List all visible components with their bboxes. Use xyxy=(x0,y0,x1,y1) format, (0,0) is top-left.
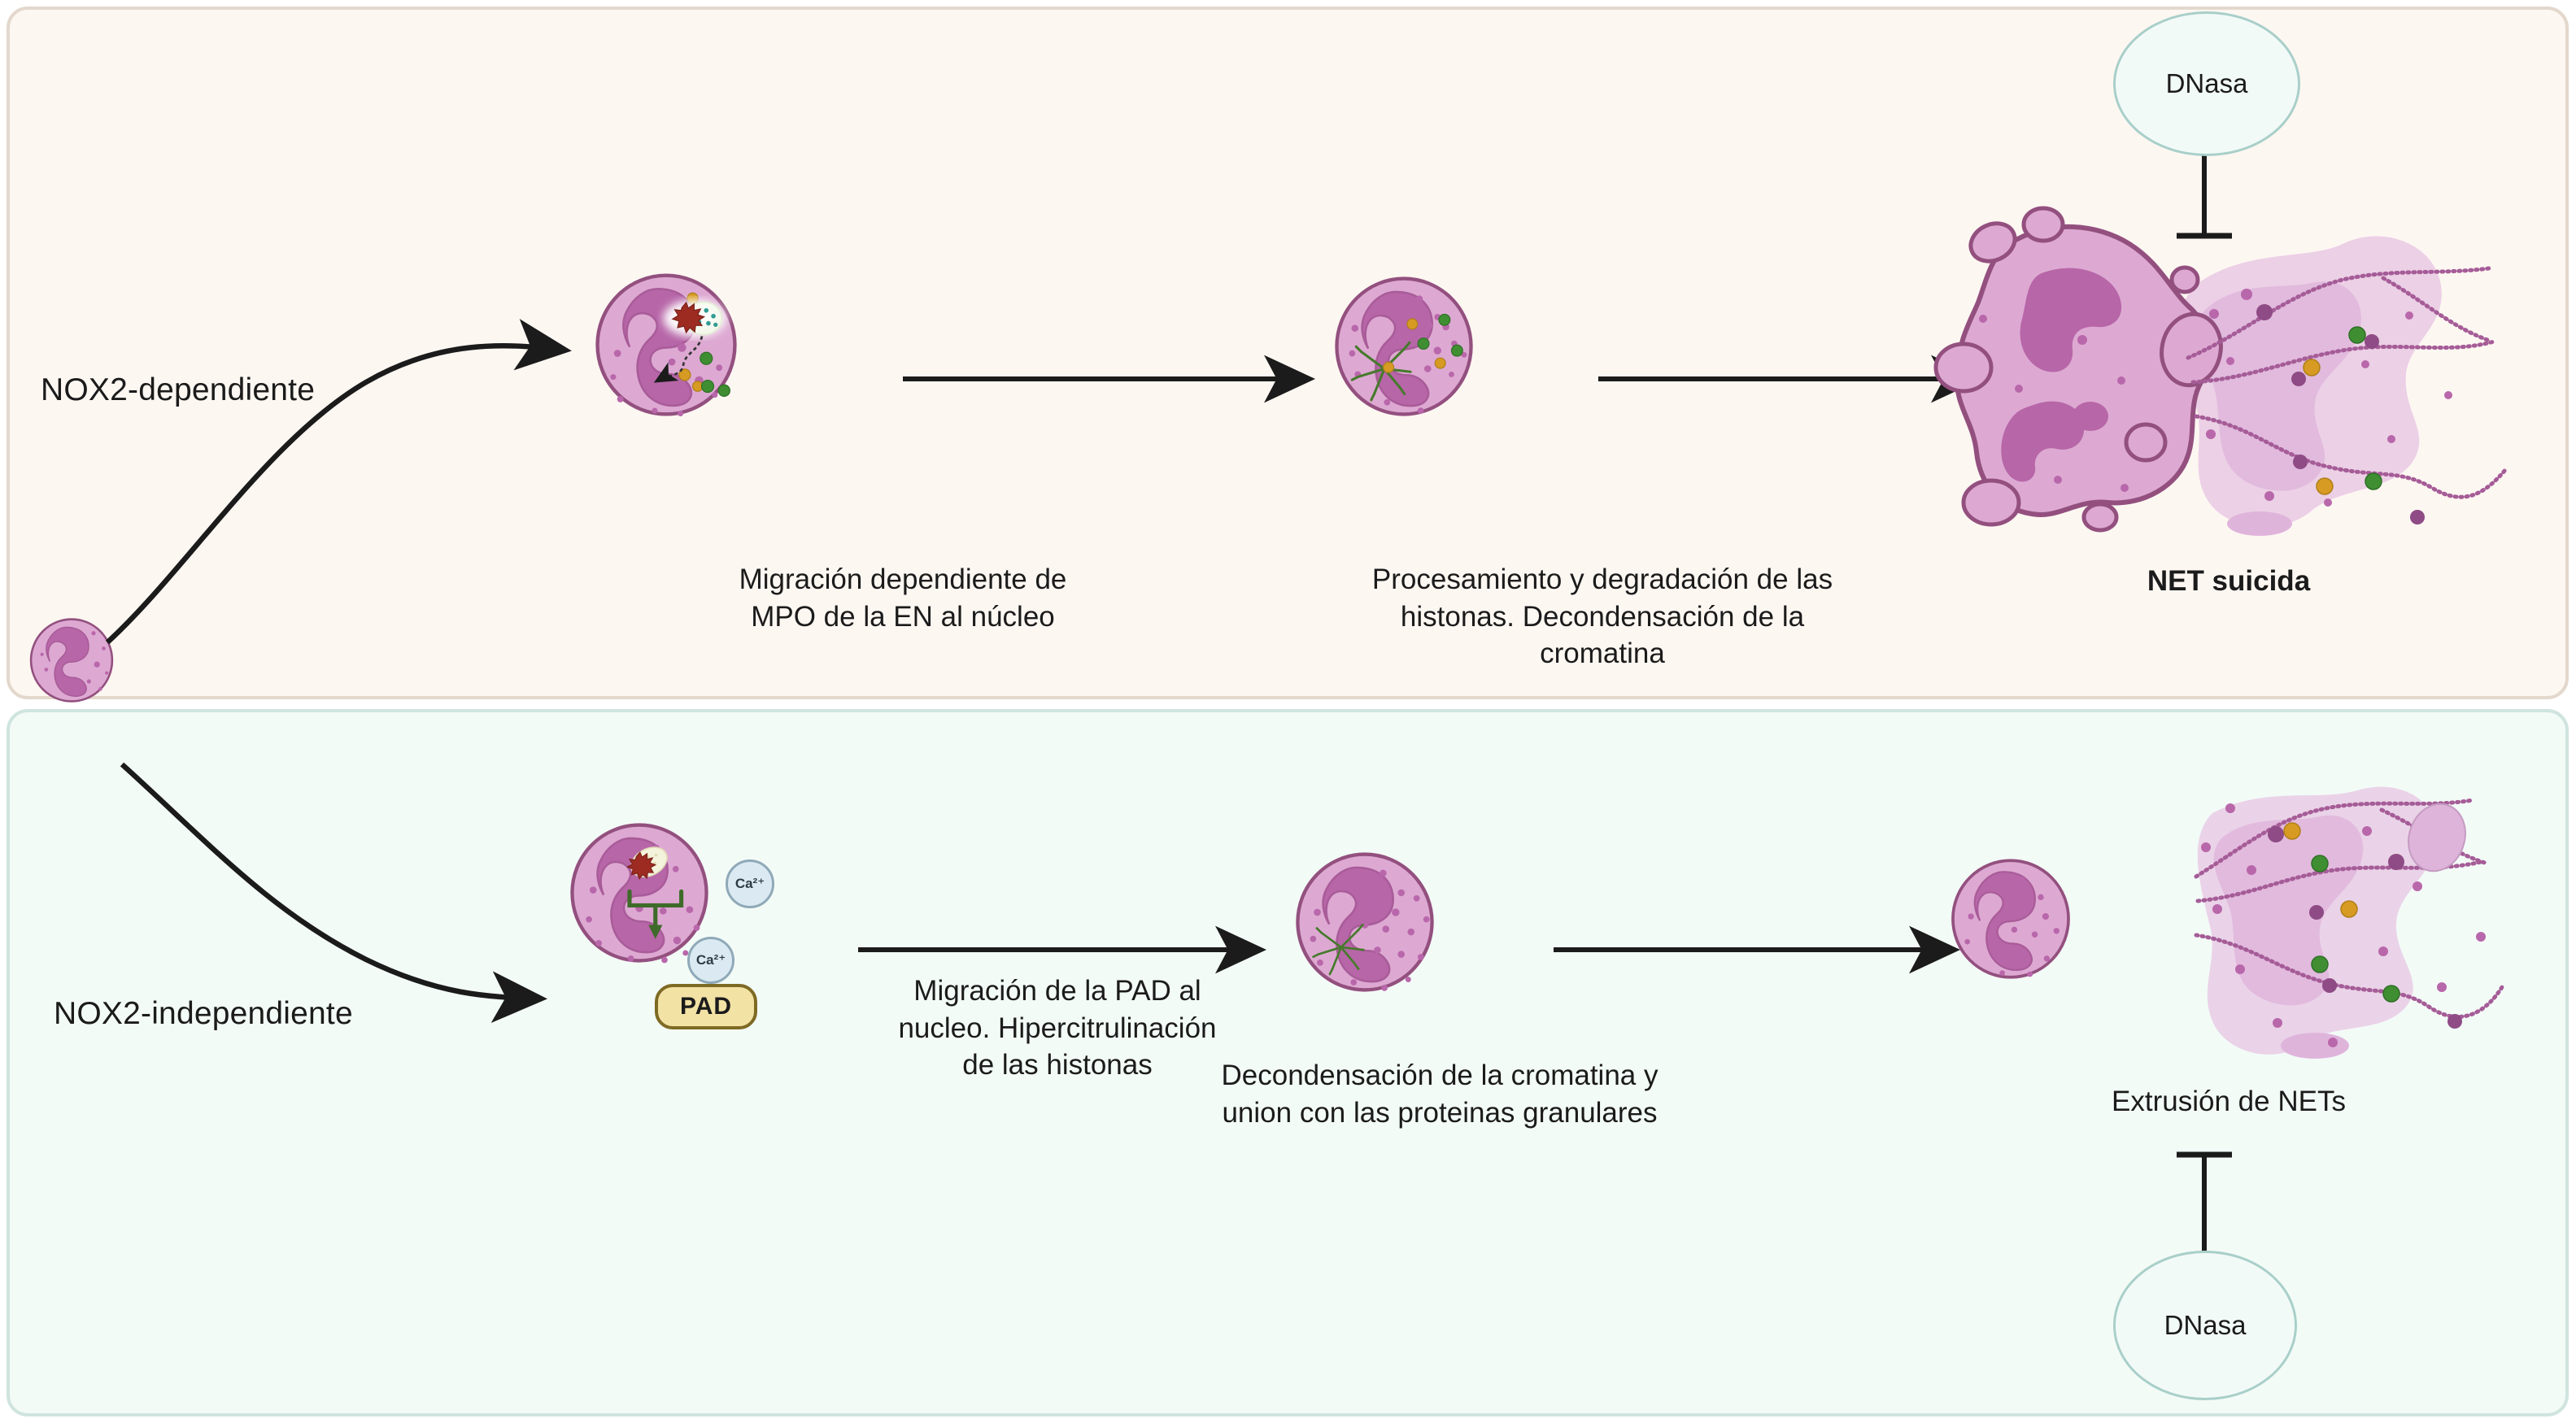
pathway-label-nox2-dependent: NOX2-dependiente xyxy=(41,370,315,411)
calcium-ion-badge-1: Ca²⁺ xyxy=(726,859,774,908)
diagram-canvas: NOX2-dependiente Migración dependiente d… xyxy=(0,0,2576,1423)
dnasa-node-top[interactable]: DNasa xyxy=(2113,11,2300,156)
label-bottom-step3: Extrusión de NETs xyxy=(2066,1083,2391,1121)
dnasa-label-top: DNasa xyxy=(2166,68,2248,99)
label-bottom-step2: Decondensación de la cromatina y union c… xyxy=(1171,1057,1708,1131)
label-top-step1: Migración dependiente de MPO de la EN al… xyxy=(708,561,1098,635)
label-top-step2: Procesamiento y degradación de las histo… xyxy=(1350,561,1855,672)
pad-enzyme-badge: PAD xyxy=(655,984,757,1029)
pathway-label-nox2-independent: NOX2-independiente xyxy=(54,994,353,1035)
calcium-ion-label-1: Ca²⁺ xyxy=(735,876,765,892)
label-top-step3: NET suicida xyxy=(2066,563,2391,600)
dnasa-label-bottom: DNasa xyxy=(2164,1310,2247,1341)
calcium-ion-badge-2: Ca²⁺ xyxy=(687,937,734,984)
dnasa-node-bottom[interactable]: DNasa xyxy=(2113,1251,2297,1400)
pad-label: PAD xyxy=(680,993,732,1020)
calcium-ion-label-2: Ca²⁺ xyxy=(696,952,726,968)
